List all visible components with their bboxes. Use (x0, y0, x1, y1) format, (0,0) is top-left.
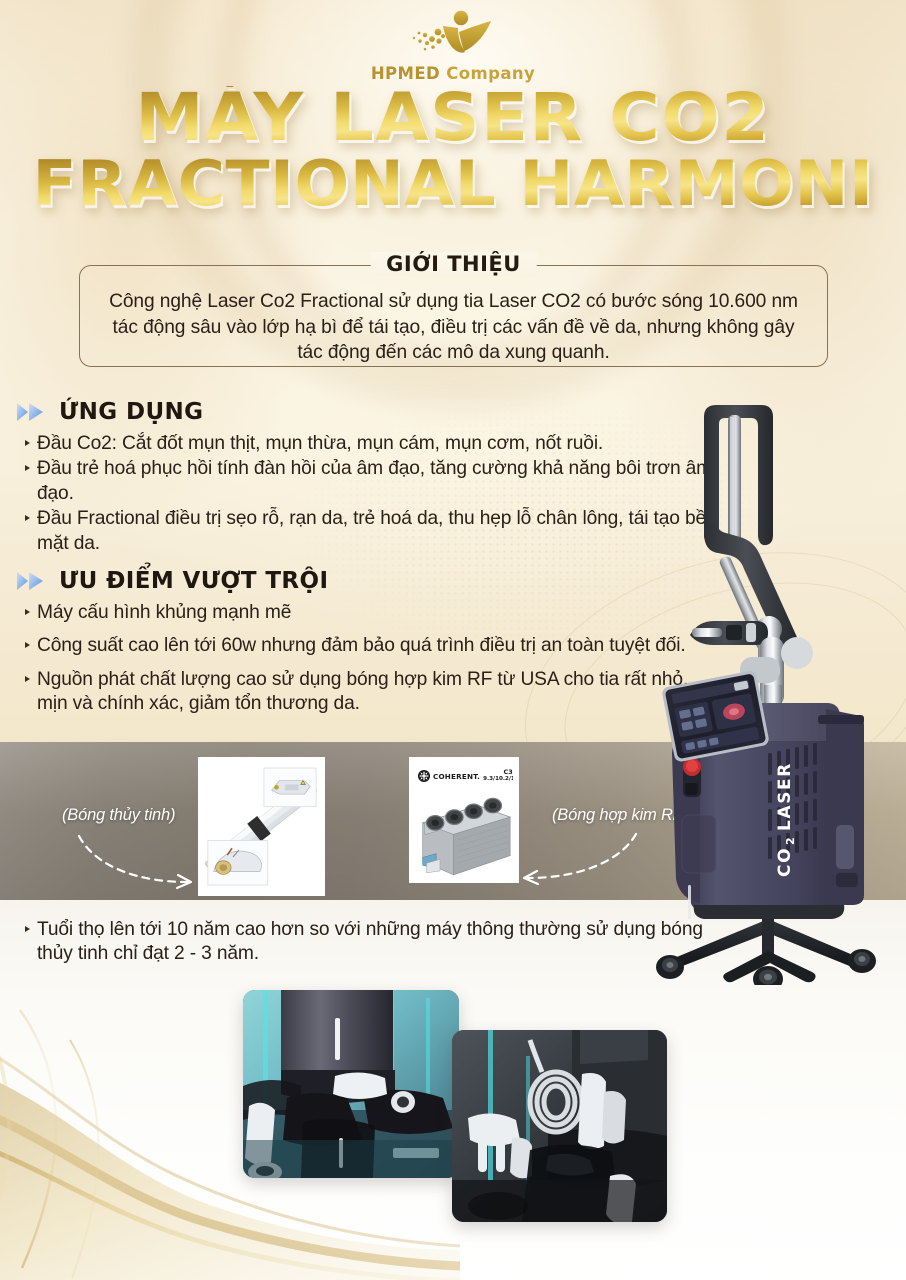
machine-detail-handpiece-holder-photo (243, 990, 459, 1178)
double-chevron-right-icon (16, 570, 50, 592)
list-item-text: Nguồn phát chất lượng cao sử dụng bóng h… (37, 669, 688, 714)
co2-laser-fractional-machine-photo: CO 2 LASER (640, 385, 906, 985)
coherent-starburst-icon (418, 770, 430, 782)
list-item-text: Máy cấu hình khủng mạnh mẽ (37, 602, 291, 623)
coherent-rf-laser-module-photo: COHERENT. C30-A 9.3/10.2/10.6 (415, 763, 513, 877)
glass-tube-caption: (Bóng thủy tinh) (62, 806, 175, 825)
list-item: Đầu Co2: Cắt đốt mụn thịt, mụn thừa, mụn… (37, 432, 731, 456)
section-bullets: Máy cấu hình khủng mạnh mẽ Công suất cao… (16, 601, 716, 717)
coherent-wavelengths: 9.3/10.2/10.6 (483, 776, 513, 782)
bullet-triangle-icon (25, 609, 30, 615)
section-applications: ỨNG DỤNG Đầu Co2: Cắt đốt mụn thịt, mụn … (16, 399, 731, 557)
section-title: ỨNG DỤNG (59, 399, 203, 425)
page-title: MÁY LASER CO2 FRACTIONAL HARMONI (0, 86, 906, 214)
bullet-triangle-icon (25, 515, 30, 521)
list-item: Đầu trẻ hoá phục hồi tính đàn hồi của âm… (37, 457, 731, 506)
section-title: ƯU ĐIỂM VƯỢT TRỘI (59, 568, 328, 594)
hpmed-person-logo-icon (405, 8, 501, 62)
machine-body-label: CO (775, 847, 795, 877)
list-item: Nguồn phát chất lượng cao sử dụng bóng h… (37, 668, 716, 717)
bullet-triangle-icon (25, 440, 30, 446)
machine-detail-cable-coil-photo (452, 1030, 667, 1222)
list-item-text: Đầu trẻ hoá phục hồi tính đàn hồi của âm… (37, 458, 712, 503)
section-bullets: Đầu Co2: Cắt đốt mụn thịt, mụn thừa, mụn… (16, 432, 731, 556)
section-advantages: ƯU ĐIỂM VƯỢT TRỘI Máy cấu hình khủng mạn… (16, 568, 716, 726)
bullet-triangle-icon (25, 465, 30, 471)
bullet-triangle-icon (25, 642, 30, 648)
bullet-triangle-icon (25, 926, 30, 932)
coherent-model-number: C30-A (483, 769, 513, 776)
coherent-brand-text: COHERENT. (433, 772, 480, 781)
intro-heading: GIỚI THIỆU (370, 252, 537, 276)
svg-text:LASER: LASER (775, 762, 795, 831)
list-item: Máy cấu hình khủng mạnh mẽ (37, 601, 716, 625)
glass-laser-tube-photo (204, 763, 319, 890)
bullet-triangle-icon (25, 676, 30, 682)
section-lifespan: Tuổi thọ lên tới 10 năm cao hơn so với n… (37, 918, 717, 968)
list-item: Công suất cao lên tới 60w nhưng đảm bảo … (37, 634, 716, 658)
list-item-text: Đầu Co2: Cắt đốt mụn thịt, mụn thừa, mụn… (37, 433, 603, 454)
title-line-2: FRACTIONAL HARMONI (0, 154, 906, 214)
list-item-text: Đầu Fractional điều trị sẹo rỗ, rạn da, … (37, 508, 706, 553)
list-item: Đầu Fractional điều trị sẹo rỗ, rạn da, … (37, 507, 731, 556)
section-header: ỨNG DỤNG (16, 399, 731, 425)
glass-tube-illustration (204, 763, 319, 890)
intro-body: Công nghệ Laser Co2 Fractional sử dụng t… (98, 289, 809, 366)
brand-logo: HPMED Company (0, 8, 906, 83)
svg-text:2: 2 (784, 837, 797, 845)
list-item: Tuổi thọ lên tới 10 năm cao hơn so với n… (37, 918, 717, 967)
photo-a-content (243, 990, 459, 1178)
poster-root: HPMED Company MÁY LASER CO2 FRACTIONAL H… (0, 0, 906, 1280)
list-item-text: Tuổi thọ lên tới 10 năm cao hơn so với n… (37, 919, 703, 964)
section-header: ƯU ĐIỂM VƯỢT TRỘI (16, 568, 716, 594)
intro-box: GIỚI THIỆU Công nghệ Laser Co2 Fractiona… (79, 265, 828, 367)
glass-tube-image-box (198, 757, 325, 896)
double-chevron-right-icon (16, 401, 50, 423)
rf-module-image-box: COHERENT. C30-A 9.3/10.2/10.6 (409, 757, 519, 883)
coherent-label: COHERENT. C30-A 9.3/10.2/10.6 (418, 765, 510, 787)
coherent-model-block: C30-A 9.3/10.2/10.6 (483, 769, 513, 782)
photo-b-content (452, 1030, 667, 1222)
title-line-1: MÁY LASER CO2 (0, 86, 906, 150)
list-item-text: Công suất cao lên tới 60w nhưng đảm bảo … (37, 635, 686, 656)
